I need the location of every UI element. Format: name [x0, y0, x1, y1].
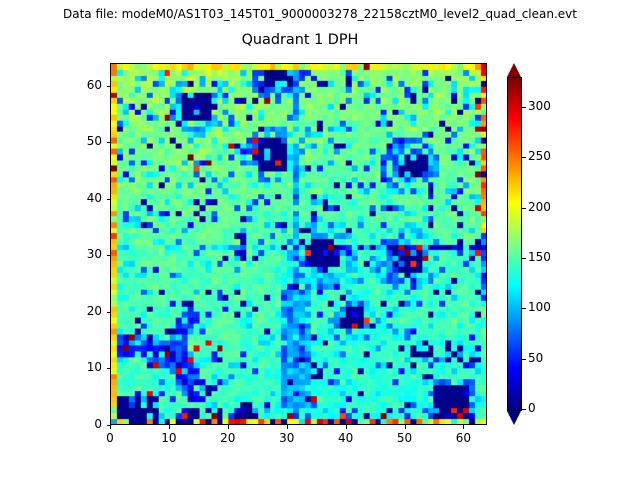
y-tick-mark — [107, 368, 111, 369]
x-tick-label: 50 — [380, 431, 430, 445]
y-tick-mark — [107, 142, 111, 143]
colorbar-tick-mark — [522, 208, 526, 209]
x-tick-mark — [169, 425, 170, 429]
colorbar-tick-label: 150 — [528, 250, 551, 264]
matplotlib-figure: Data file: modeM0/AS1T03_145T01_90000032… — [0, 0, 640, 480]
colorbar-tick-mark — [522, 308, 526, 309]
y-tick-label: 60 — [50, 78, 102, 92]
x-tick-mark — [228, 425, 229, 429]
y-tick-label: 10 — [50, 360, 102, 374]
colorbar-tick-label: 200 — [528, 200, 551, 214]
x-tick-label: 30 — [262, 431, 312, 445]
heatmap-image — [111, 64, 486, 424]
x-tick-mark — [405, 425, 406, 429]
y-tick-label: 40 — [50, 191, 102, 205]
colorbar-tick-mark — [522, 157, 526, 158]
colorbar-tick-mark — [522, 409, 526, 410]
y-tick-mark — [107, 86, 111, 87]
y-tick-mark — [107, 312, 111, 313]
colorbar-extend-low-arrow — [507, 411, 521, 425]
x-tick-label: 10 — [144, 431, 194, 445]
colorbar-tick-label: 300 — [528, 99, 551, 113]
colorbar-extend-high-arrow — [507, 63, 521, 77]
colorbar-tick-mark — [522, 107, 526, 108]
colorbar-tick-mark — [522, 258, 526, 259]
colorbar — [507, 63, 522, 425]
colorbar-tick-label: 0 — [528, 401, 536, 415]
axes-title: Quadrant 1 DPH — [0, 32, 600, 48]
x-tick-mark — [110, 425, 111, 429]
x-tick-label: 40 — [321, 431, 371, 445]
y-tick-label: 30 — [50, 247, 102, 261]
y-tick-label: 20 — [50, 304, 102, 318]
x-tick-mark — [287, 425, 288, 429]
x-tick-mark — [346, 425, 347, 429]
colorbar-tick-label: 250 — [528, 149, 551, 163]
colorbar-gradient — [508, 78, 521, 410]
y-tick-label: 0 — [50, 417, 102, 431]
x-tick-mark — [463, 425, 464, 429]
figure-suptitle: Data file: modeM0/AS1T03_145T01_90000032… — [0, 7, 640, 21]
x-tick-label: 0 — [85, 431, 135, 445]
heatmap-axes — [110, 63, 487, 425]
x-tick-label: 60 — [438, 431, 488, 445]
y-tick-mark — [107, 199, 111, 200]
y-tick-label: 50 — [50, 134, 102, 148]
colorbar-tick-mark — [522, 359, 526, 360]
colorbar-body — [507, 77, 522, 411]
colorbar-tick-label: 100 — [528, 300, 551, 314]
colorbar-tick-label: 50 — [528, 351, 543, 365]
x-tick-label: 20 — [203, 431, 253, 445]
y-tick-mark — [107, 255, 111, 256]
